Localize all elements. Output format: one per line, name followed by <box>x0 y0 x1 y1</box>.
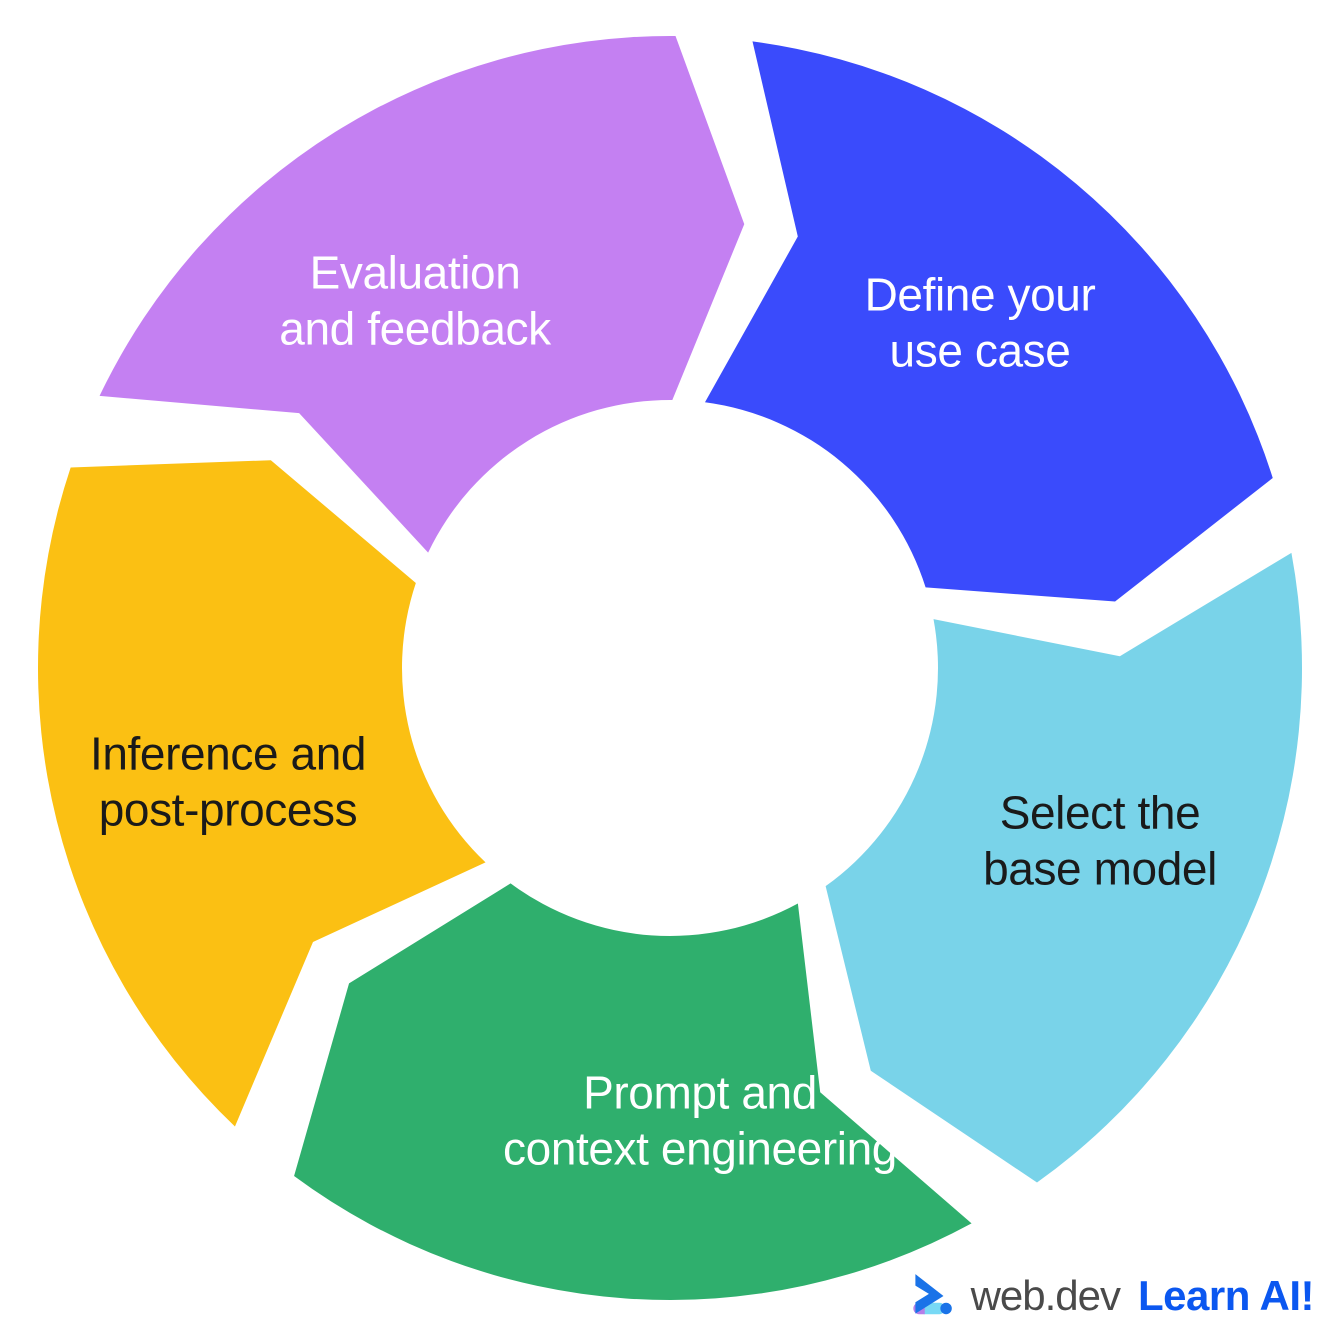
segment-group <box>38 36 1302 1300</box>
logo-dot-shape <box>940 1303 951 1314</box>
cycle-segment-select-base-model[interactable] <box>826 553 1302 1183</box>
brand-lockup: web.dev Learn AI! <box>905 1268 1314 1324</box>
brand-tagline: Learn AI! <box>1138 1275 1314 1317</box>
brand-product-name: web.dev <box>971 1275 1120 1317</box>
cycle-donut-chart: Define youruse caseSelect thebase modelP… <box>0 0 1340 1340</box>
diagram-canvas: Define youruse caseSelect thebase modelP… <box>0 0 1340 1340</box>
webdev-chevron-icon <box>905 1270 957 1322</box>
cycle-segment-define-use-case[interactable] <box>705 41 1273 601</box>
